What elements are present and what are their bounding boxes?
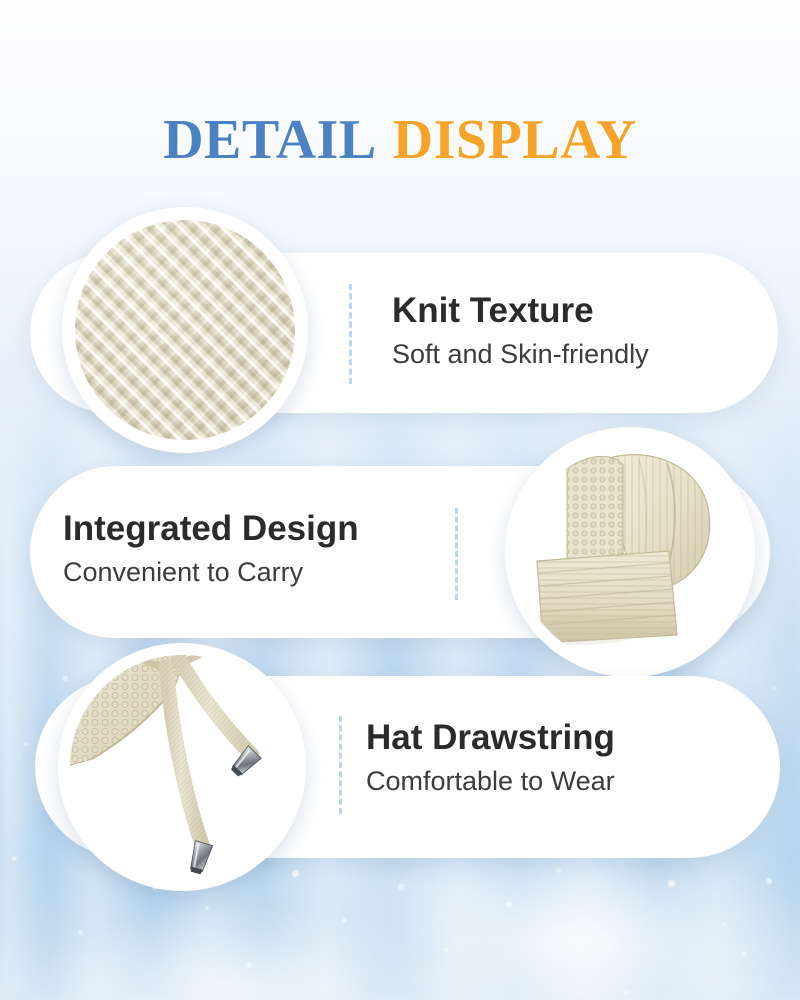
divider-dashed-3	[339, 716, 342, 814]
feature-heading-1: Knit Texture	[392, 291, 649, 331]
drawstring-illustration	[70, 655, 294, 879]
feature-image-knit-texture	[62, 207, 308, 453]
feature-subheading-3: Comfortable to Wear	[366, 765, 615, 797]
knit-pattern-fill	[75, 220, 295, 440]
page-title: DETAILDISPLAY	[0, 112, 800, 168]
feature-image-integrated-design	[505, 427, 755, 677]
drawstring-photo	[70, 655, 294, 879]
knit-texture-photo	[75, 220, 295, 440]
page-title-part-display: DISPLAY	[393, 109, 637, 171]
detail-display-page: DETAILDISPLAY Knit Texture Soft and Skin…	[0, 0, 800, 1000]
feature-text-2: Integrated Design Convenient to Carry	[63, 509, 359, 589]
divider-dashed-2	[455, 508, 458, 600]
feature-image-hat-drawstring	[58, 643, 306, 891]
feature-text-3: Hat Drawstring Comfortable to Wear	[366, 718, 615, 798]
page-title-part-detail: DETAIL	[163, 109, 377, 171]
divider-dashed-1	[349, 284, 352, 384]
hat-scarf-illustration	[517, 439, 743, 665]
feature-heading-3: Hat Drawstring	[366, 718, 615, 758]
feature-text-1: Knit Texture Soft and Skin-friendly	[392, 291, 649, 371]
hat-scarf-photo	[517, 439, 743, 665]
feature-subheading-1: Soft and Skin-friendly	[392, 338, 649, 370]
feature-subheading-2: Convenient to Carry	[63, 556, 359, 588]
metal-aglet-left	[187, 841, 213, 876]
feature-heading-2: Integrated Design	[63, 509, 359, 549]
